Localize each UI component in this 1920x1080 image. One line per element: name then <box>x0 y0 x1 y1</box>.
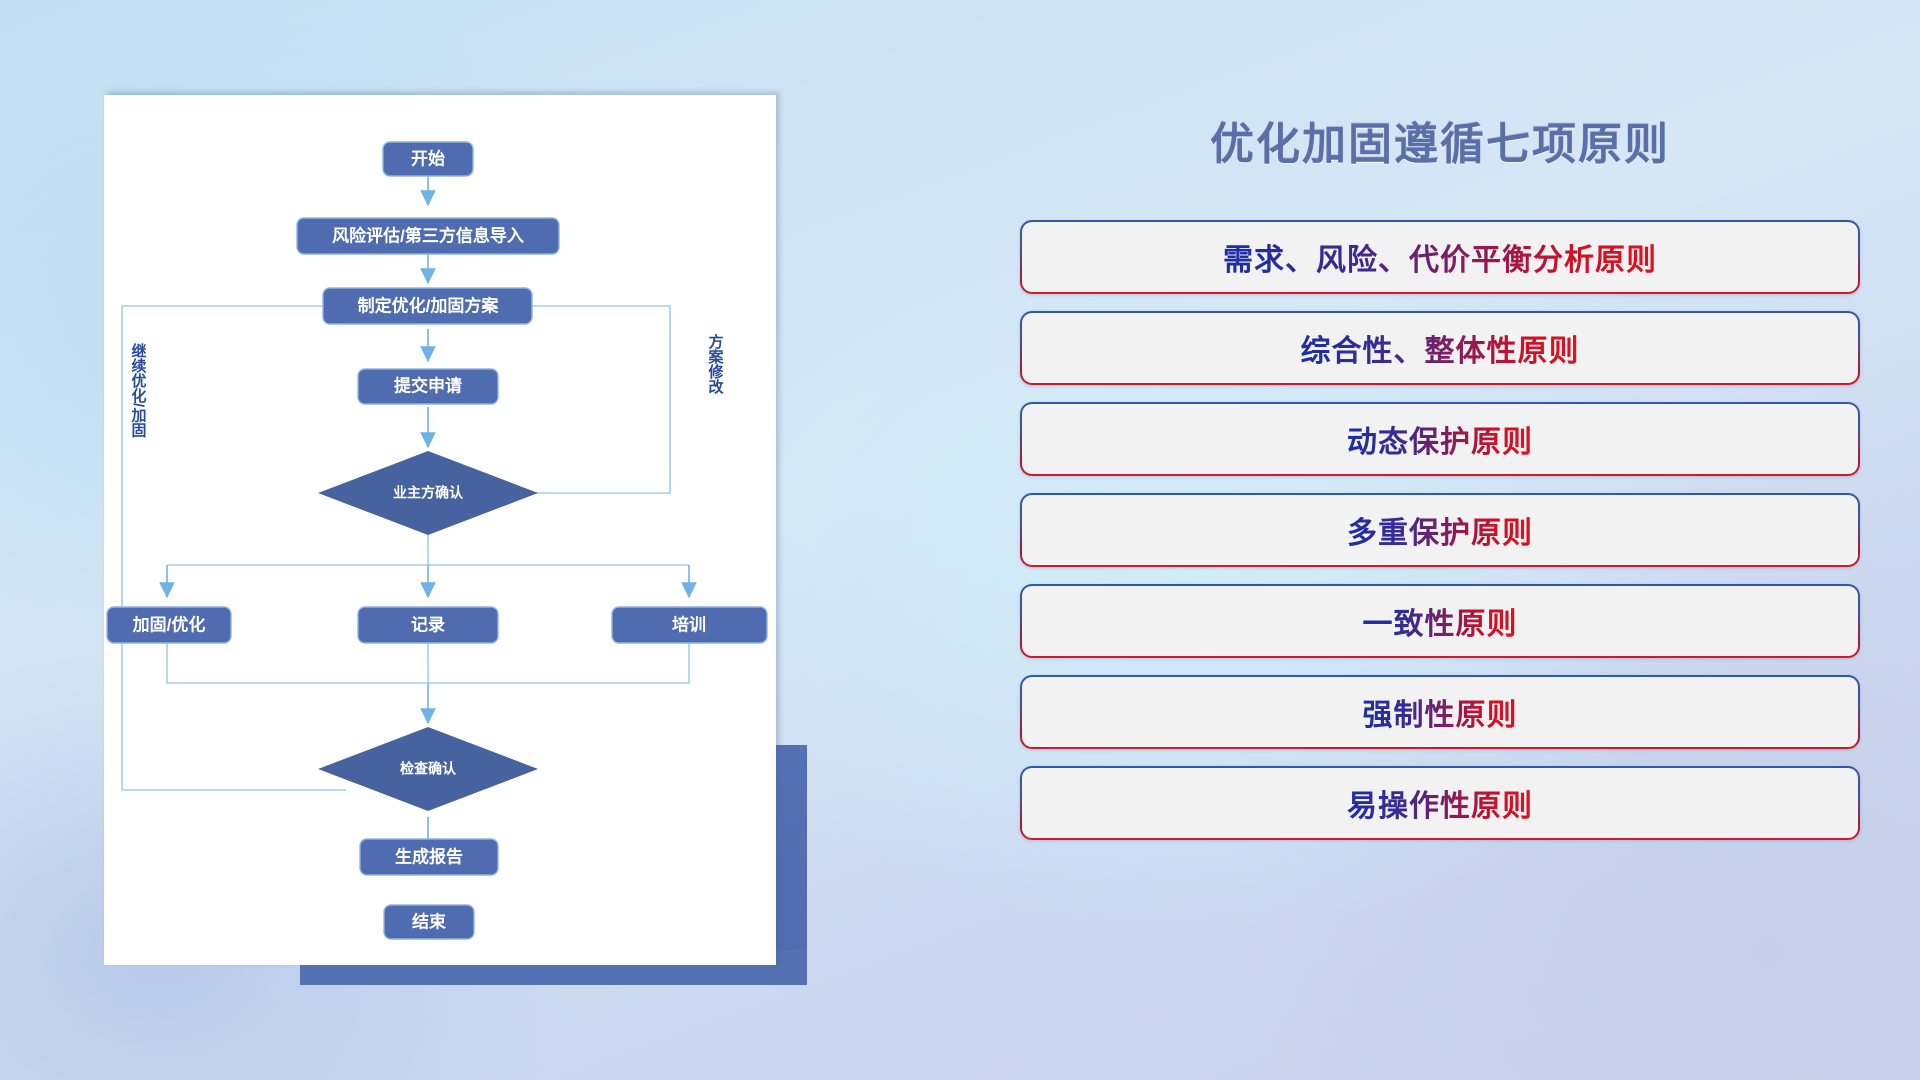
flow-node-risk-assessment-label: 风险评估/第三方信息导入 <box>332 225 524 245</box>
principle-card-4-inner: 多重保护原则 <box>1022 495 1858 565</box>
flow-node-end-label: 结束 <box>412 911 446 931</box>
edge-label-plan-revision: 方案修改 <box>707 333 725 395</box>
principle-card-7[interactable]: 易操作性原则 <box>1020 766 1860 840</box>
principle-card-2-label: 综合性、整体性原则 <box>1301 326 1580 370</box>
principle-card-5-label: 一致性原则 <box>1363 599 1518 643</box>
flow-node-submit[interactable]: 提交申请 <box>358 369 498 404</box>
flow-node-end[interactable]: 结束 <box>384 905 474 939</box>
flow-node-start[interactable]: 开始 <box>383 142 473 176</box>
flow-node-training-label: 培训 <box>672 614 706 634</box>
flow-node-reinforce-label: 加固/优化 <box>132 614 206 634</box>
flow-node-risk-assessment[interactable]: 风险评估/第三方信息导入 <box>297 218 559 254</box>
flow-node-check[interactable]: 检查确认 <box>318 727 538 811</box>
principle-card-7-inner: 易操作性原则 <box>1022 768 1858 838</box>
principle-card-7-label: 易操作性原则 <box>1347 781 1533 825</box>
flow-node-submit-label: 提交申请 <box>394 375 462 395</box>
flow-node-start-label: 开始 <box>411 148 445 168</box>
edge-label-continue-optimize: 继续优化/加固 <box>130 342 148 438</box>
principles-list: 需求、风险、代价平衡分析原则 综合性、整体性原则 动态保护原则 多重保护原则 <box>1020 220 1860 857</box>
flow-node-plan-label: 制定优化/加固方案 <box>358 295 500 315</box>
flow-node-report-label: 生成报告 <box>395 846 463 866</box>
flow-node-training[interactable]: 培训 <box>612 607 767 643</box>
page-title: 优化加固遵循七项原则 <box>1020 108 1860 172</box>
principle-card-1-inner: 需求、风险、代价平衡分析原则 <box>1022 222 1858 292</box>
flow-node-record-label: 记录 <box>411 615 445 634</box>
principle-card-3-label: 动态保护原则 <box>1347 417 1533 461</box>
flow-node-reinforce[interactable]: 加固/优化 <box>107 607 231 643</box>
principle-card-4-label: 多重保护原则 <box>1347 508 1533 552</box>
flow-node-report[interactable]: 生成报告 <box>360 839 498 875</box>
process-flowchart: 开始 风险评估/第三方信息导入 制定优化/加固方案 提交申请 业主方确认 加固/… <box>104 95 776 965</box>
principle-card-3-inner: 动态保护原则 <box>1022 404 1858 474</box>
principle-card-6-inner: 强制性原则 <box>1022 677 1858 747</box>
principle-card-1-label: 需求、风险、代价平衡分析原则 <box>1223 235 1657 279</box>
flow-node-owner-confirm-label: 业主方确认 <box>393 485 464 501</box>
principles-panel: 优化加固遵循七项原则 需求、风险、代价平衡分析原则 综合性、整体性原则 动态保护… <box>1020 90 1860 1020</box>
principle-card-2[interactable]: 综合性、整体性原则 <box>1020 311 1860 385</box>
principle-card-6-label: 强制性原则 <box>1363 690 1518 734</box>
principle-card-5[interactable]: 一致性原则 <box>1020 584 1860 658</box>
principle-card-3[interactable]: 动态保护原则 <box>1020 402 1860 476</box>
principle-card-1[interactable]: 需求、风险、代价平衡分析原则 <box>1020 220 1860 294</box>
flow-node-owner-confirm[interactable]: 业主方确认 <box>318 451 538 535</box>
principle-card-4[interactable]: 多重保护原则 <box>1020 493 1860 567</box>
flow-node-plan[interactable]: 制定优化/加固方案 <box>323 288 532 324</box>
edge-confirm-to-plan-revision <box>494 306 670 493</box>
slide-canvas: 开始 风险评估/第三方信息导入 制定优化/加固方案 提交申请 业主方确认 加固/… <box>0 0 1920 1080</box>
principle-card-6[interactable]: 强制性原则 <box>1020 675 1860 749</box>
edge-check-to-plan-continue <box>122 306 362 790</box>
flow-node-check-label: 检查确认 <box>400 761 457 777</box>
principle-card-2-inner: 综合性、整体性原则 <box>1022 313 1858 383</box>
principle-card-5-inner: 一致性原则 <box>1022 586 1858 656</box>
flow-node-record[interactable]: 记录 <box>358 607 498 643</box>
